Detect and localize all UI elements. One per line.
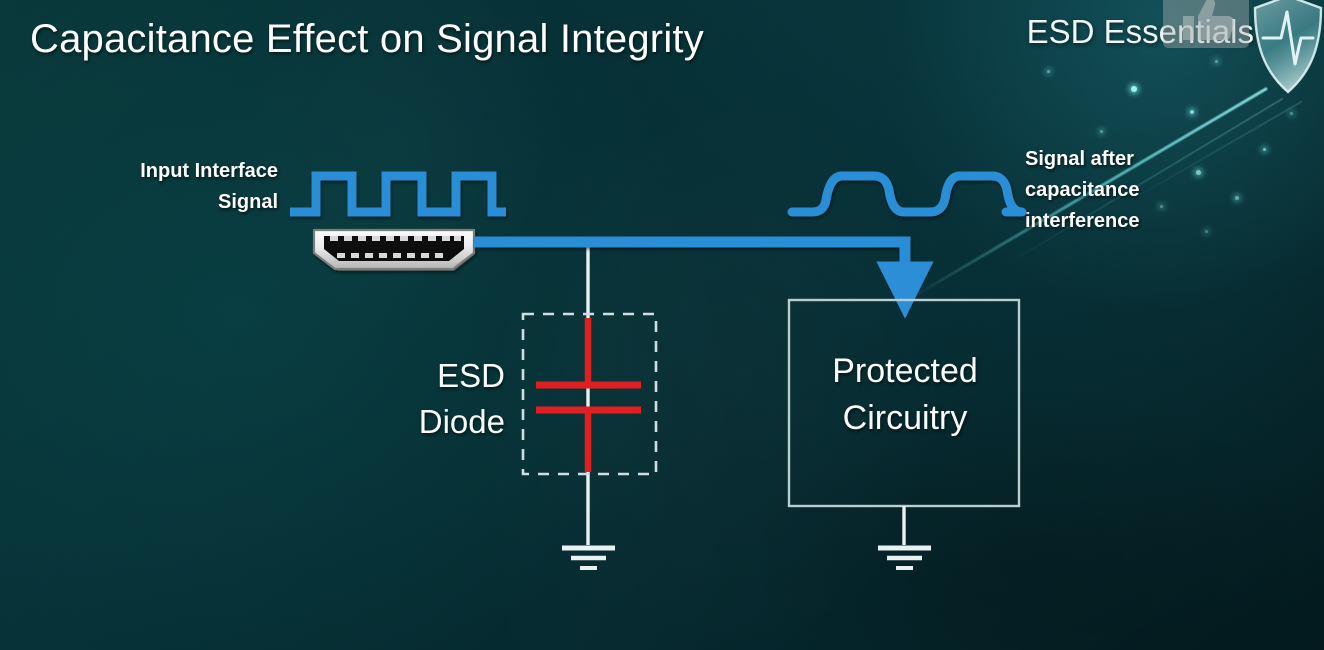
output-waveform	[792, 176, 1022, 212]
signal-trace	[474, 242, 905, 290]
slide-canvas: Capacitance Effect on Signal Integrity E…	[0, 0, 1324, 650]
ground-symbol	[878, 548, 931, 568]
hdmi-connector-icon	[314, 230, 474, 271]
circuit-diagram	[0, 0, 1324, 650]
protected-circuitry-box	[789, 300, 1019, 545]
ground-symbol	[562, 548, 615, 568]
input-waveform	[290, 176, 506, 212]
